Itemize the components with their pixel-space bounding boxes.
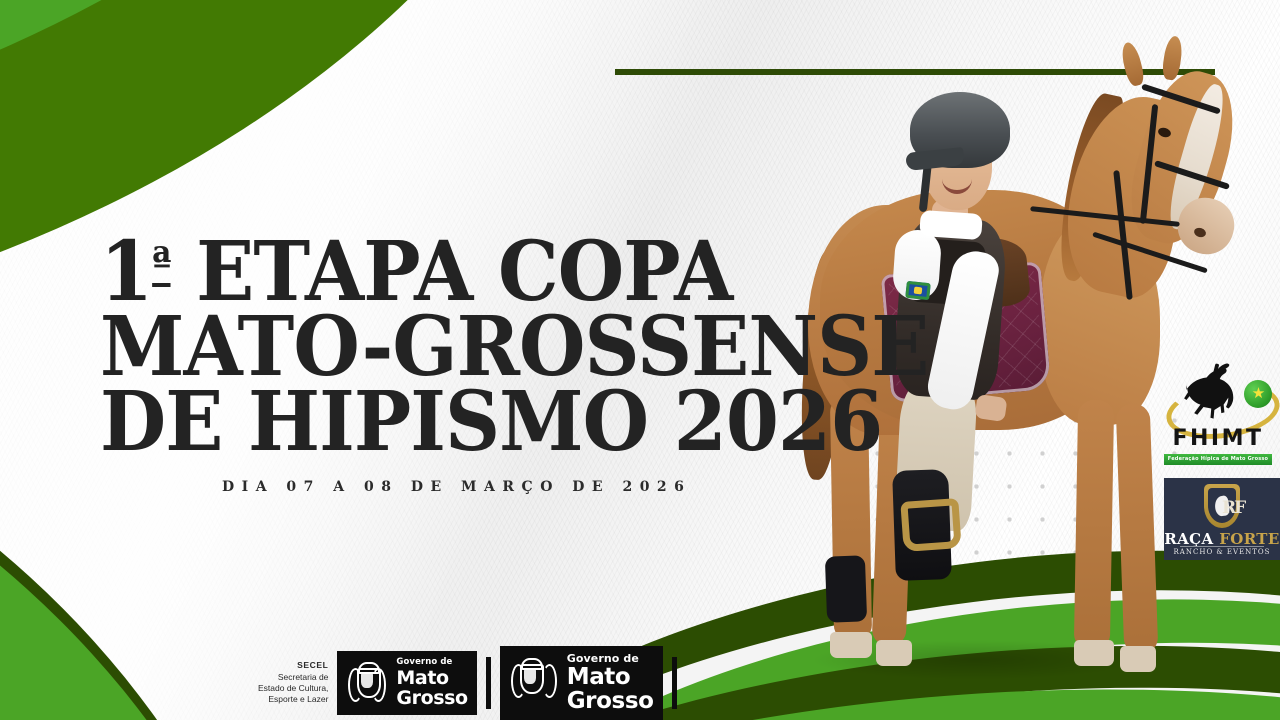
event-poster: 1ª ETAPA COPA MATO-GROSSENSE DE HIPISMO … [0,0,1280,720]
raca-forte-divider [1180,546,1264,547]
fhimt-subtitle: Federação Hípica de Mato Grosso [1164,454,1272,465]
mato-grosso-coat-of-arms-icon-2 [507,656,561,710]
stirrup-iron [900,498,961,552]
star-icon: ★ [1251,386,1266,401]
crest-shield-inner-2 [524,669,536,684]
headline-line-1: 1ª ETAPA COPA [100,238,770,307]
mato-label-1: Mato [396,669,467,688]
fhimt-logo[interactable]: ★ FHIMT Federação Hípica de Mato Grosso [1158,360,1278,472]
rider-hand [974,394,1007,422]
secel-line-3: Esporte e Lazer [258,694,328,705]
horse-ear-left [1119,41,1146,88]
event-date: DIA 07 A 08 DE MARÇO DE 2026 [222,479,820,495]
crest-shield-inner [361,673,373,688]
governo-mato-grosso-badge-1[interactable]: Governo de Mato Grosso [337,651,476,715]
secel-line-2: Estado de Cultura, [258,683,328,694]
grosso-label-2: Grosso [567,690,654,713]
government-logo-end-bar [672,657,677,709]
secel-acronym: SECEL [258,660,328,671]
shield-inner: RF [1208,488,1236,523]
shield-horse-icon: RF [1204,484,1240,528]
government-logo-separator [486,657,491,709]
secel-text-block: SECEL Secretaria de Estado de Cultura, E… [258,660,328,706]
government-logo-bar: SECEL Secretaria de Estado de Cultura, E… [258,652,677,714]
raca-forte-monogram: RF [1222,498,1244,518]
governo-mato-grosso-badge-2[interactable]: Governo de Mato Grosso [500,646,663,720]
horse-front-leg-right [1116,403,1159,654]
horse-hoof-front-right [1120,646,1156,672]
mato-label-2: Mato [567,666,654,689]
governo-de-label-2: Governo de [567,653,654,664]
headline-line-2: MATO-GROSSENSE [100,313,770,382]
secel-line-1: Secretaria de [258,672,328,683]
horse-hoof-front-left [1074,640,1114,666]
ordinal-suffix: ª [152,239,170,289]
horse-leg-boot [825,555,867,622]
headline-line-3: DE HIPISMO 2026 [100,388,770,457]
fhimt-name: FHIMT [1158,426,1278,451]
crest-wreath-right-2 [542,664,557,698]
horse-ear-right [1161,35,1184,81]
raca-forte-subtitle: RANCHO & EVENTOS [1164,548,1280,556]
mato-grosso-coat-of-arms-icon [344,660,390,706]
horse-front-leg-left [1074,400,1114,651]
horse-hoof-hind-right [876,640,912,666]
horse-hoof-hind-left [830,632,872,658]
raca-forte-logo[interactable]: RF RAÇA FORTE RANCHO & EVENTOS [1164,478,1280,560]
rider-collar [919,210,983,240]
governo-words-2: Governo de Mato Grosso [567,653,654,713]
headline-block: 1ª ETAPA COPA MATO-GROSSENSE DE HIPISMO … [100,238,820,495]
grosso-label-1: Grosso [396,689,467,708]
governo-words-1: Governo de Mato Grosso [396,658,467,708]
flag-patch-detail [914,287,923,295]
governo-de-label-1: Governo de [396,658,467,667]
